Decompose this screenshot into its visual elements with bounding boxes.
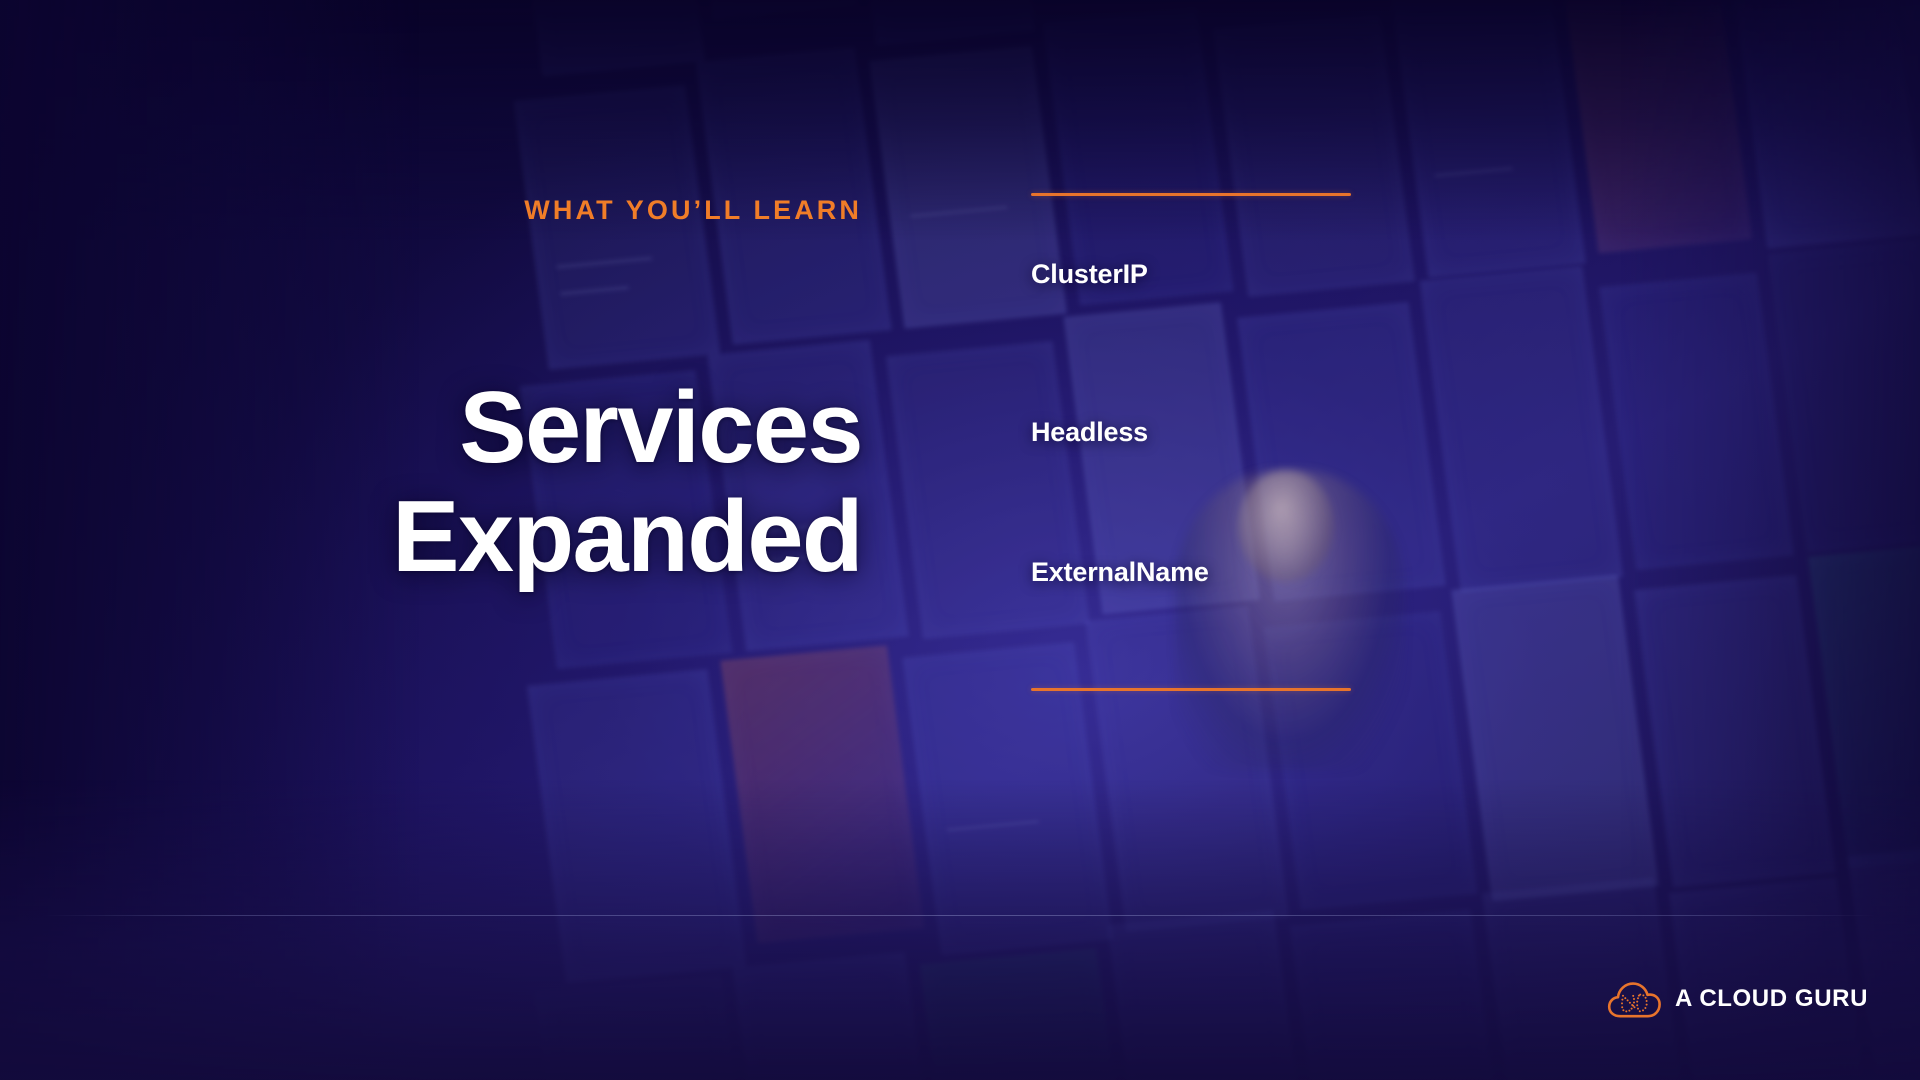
page-title-line-1: Services	[459, 372, 862, 484]
brand-name-label: A CLOUD GURU	[1675, 987, 1868, 1011]
list-item: ExternalName	[1031, 559, 1371, 586]
list-item: ClusterIP	[1031, 261, 1371, 288]
footer-divider	[40, 915, 1880, 916]
list-item: Headless	[1031, 419, 1371, 446]
title-column: WHAT YOU’LL LEARN Services Expanded	[0, 0, 862, 1080]
page-title: Services Expanded	[0, 374, 862, 592]
divider-rule-top	[1031, 193, 1351, 196]
slide-canvas: WHAT YOU’LL LEARN Services Expanded Clus…	[0, 0, 1920, 1080]
brand-logo: A CLOUD GURU	[1607, 979, 1868, 1019]
eyebrow-label: WHAT YOU’LL LEARN	[0, 197, 862, 224]
cloud-icon	[1607, 979, 1661, 1019]
divider-rule-bottom	[1031, 688, 1351, 691]
topics-column: ClusterIP Headless ExternalName	[1031, 0, 1351, 1080]
page-title-line-2: Expanded	[0, 483, 862, 592]
